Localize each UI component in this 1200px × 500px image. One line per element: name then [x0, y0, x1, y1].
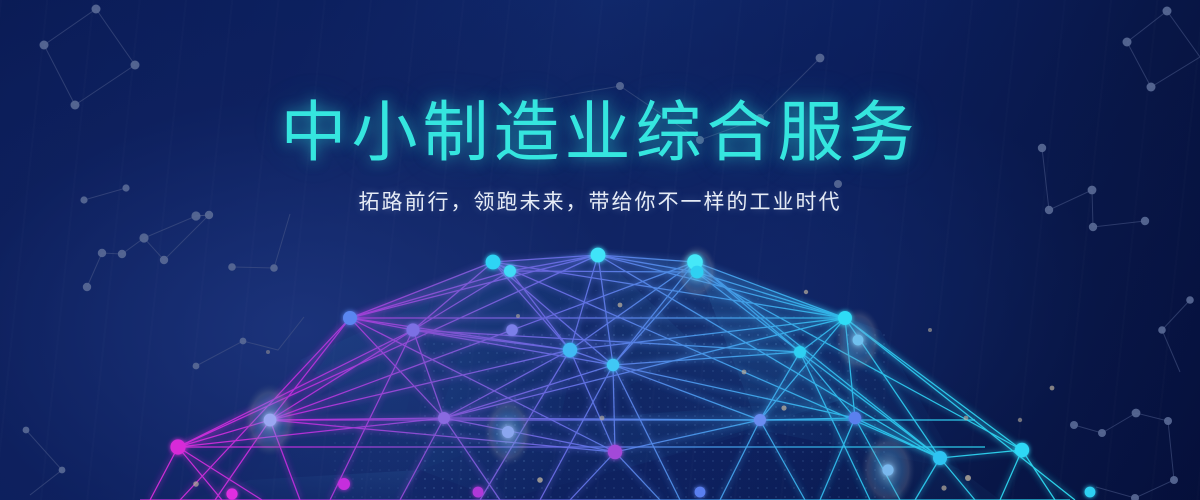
page-subtitle: 拓路前行，领跑未来，带给你不一样的工业时代 [0, 186, 1200, 216]
dome-node [473, 487, 484, 498]
dome-node [502, 426, 514, 438]
dome-node [695, 487, 706, 498]
dome-node [406, 323, 419, 336]
dome-node [691, 266, 704, 279]
dome-node [882, 464, 893, 475]
dome-node [338, 478, 350, 490]
dome-node [933, 451, 947, 465]
dome-node [264, 414, 277, 427]
page-title: 中小制造业综合服务 [0, 96, 1200, 170]
dome-node [563, 343, 577, 357]
dome-node [486, 255, 501, 270]
hero-banner: .cline { stroke:#4a5a88; stroke-width:1;… [0, 0, 1200, 500]
dome-node [608, 445, 622, 459]
dome-node [853, 335, 864, 346]
dome-network-layer [0, 0, 1200, 500]
dome-node [591, 248, 606, 263]
dome-node [838, 311, 852, 325]
dome-node [794, 346, 806, 358]
dome-node [170, 439, 185, 454]
dome-node [504, 265, 516, 277]
dome-node [1015, 443, 1029, 457]
dome-node [849, 412, 861, 424]
hero-text-block: 中小制造业综合服务 拓路前行，领跑未来，带给你不一样的工业时代 [0, 96, 1200, 216]
dome-node [506, 324, 518, 336]
dome-node [607, 359, 619, 371]
dome-node [226, 488, 237, 499]
dome-node [1085, 487, 1096, 498]
dome-node [343, 311, 357, 325]
dome-node [754, 414, 766, 426]
dome-node [438, 412, 450, 424]
